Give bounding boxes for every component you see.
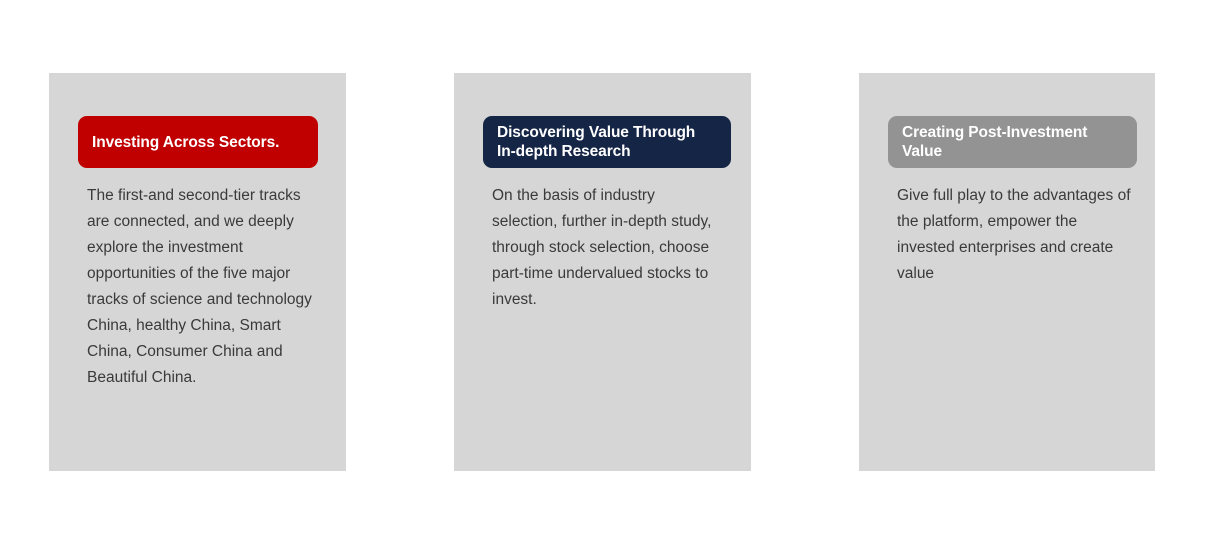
card-3-body-text: Give full play to the advantages of the … bbox=[897, 183, 1135, 287]
card-1-title-line-1: Investing Across Sectors. bbox=[92, 133, 304, 152]
cards-board: Investing Across Sectors. The first-and … bbox=[0, 0, 1212, 558]
card-3-title-line-2: Value bbox=[902, 142, 1123, 161]
card-1-body-text: The first-and second-tier tracks are con… bbox=[87, 183, 327, 391]
card-3-title-line-1: Creating Post-Investment bbox=[902, 123, 1123, 142]
card-discovering-value-through-in-depth-research: Discovering Value Through In-depth Resea… bbox=[454, 73, 751, 471]
card-2-title-badge: Discovering Value Through In-depth Resea… bbox=[483, 116, 731, 168]
card-2-title-line-1: Discovering Value Through bbox=[497, 123, 717, 142]
card-2-body-text: On the basis of industry selection, furt… bbox=[492, 183, 724, 313]
card-creating-post-investment-value: Creating Post-Investment Value Give full… bbox=[859, 73, 1155, 471]
card-investing-across-sectors: Investing Across Sectors. The first-and … bbox=[49, 73, 346, 471]
card-3-title-badge: Creating Post-Investment Value bbox=[888, 116, 1137, 168]
card-1-title-badge: Investing Across Sectors. bbox=[78, 116, 318, 168]
card-2-title-line-2: In-depth Research bbox=[497, 142, 717, 161]
